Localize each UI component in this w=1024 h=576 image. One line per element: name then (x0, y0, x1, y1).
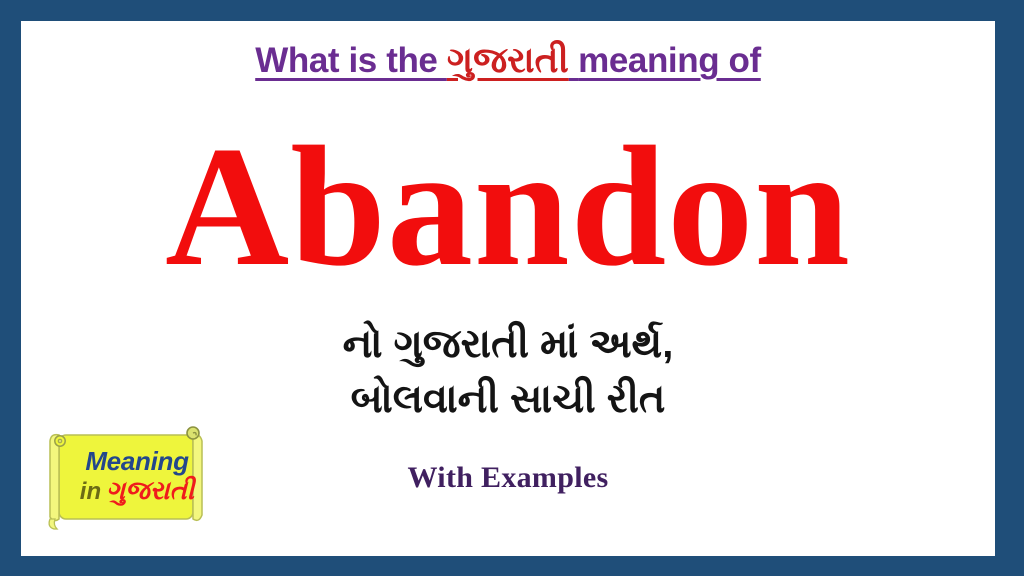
logo-meaning-word: Meaning (85, 446, 188, 476)
title-space-2 (569, 41, 578, 80)
title-suffix: meaning of (578, 41, 761, 80)
title-space-1 (438, 41, 447, 80)
logo-row-meaning: Meaning (85, 447, 188, 476)
meaning-line-1: નો ગુજરાતી માં અર્થ, (21, 317, 995, 372)
thumbnail-card: What is the ગુજરાતી meaning of Abandon ન… (0, 0, 1024, 576)
headline-word: Abandon (21, 115, 995, 301)
gujarati-meaning-block: નો ગુજરાતી માં અર્થ, બોલવાની સાચી રીત (21, 317, 995, 427)
logo-row-in-language: inગુજરાતી (80, 476, 194, 506)
title-language: ગુજરાતી (447, 39, 569, 80)
card-inner-surface: What is the ગુજરાતી meaning of Abandon ન… (21, 21, 995, 556)
title-prefix: What is the (255, 41, 437, 80)
logo-language-word: ગુજરાતી (106, 475, 194, 505)
logo-in-word: in (80, 478, 101, 505)
logo-text-group: Meaning inગુજરાતી (63, 437, 211, 515)
brand-logo: Meaning inગુજરાતી (33, 419, 218, 534)
question-title: What is the ગુજરાતી meaning of (21, 42, 995, 78)
